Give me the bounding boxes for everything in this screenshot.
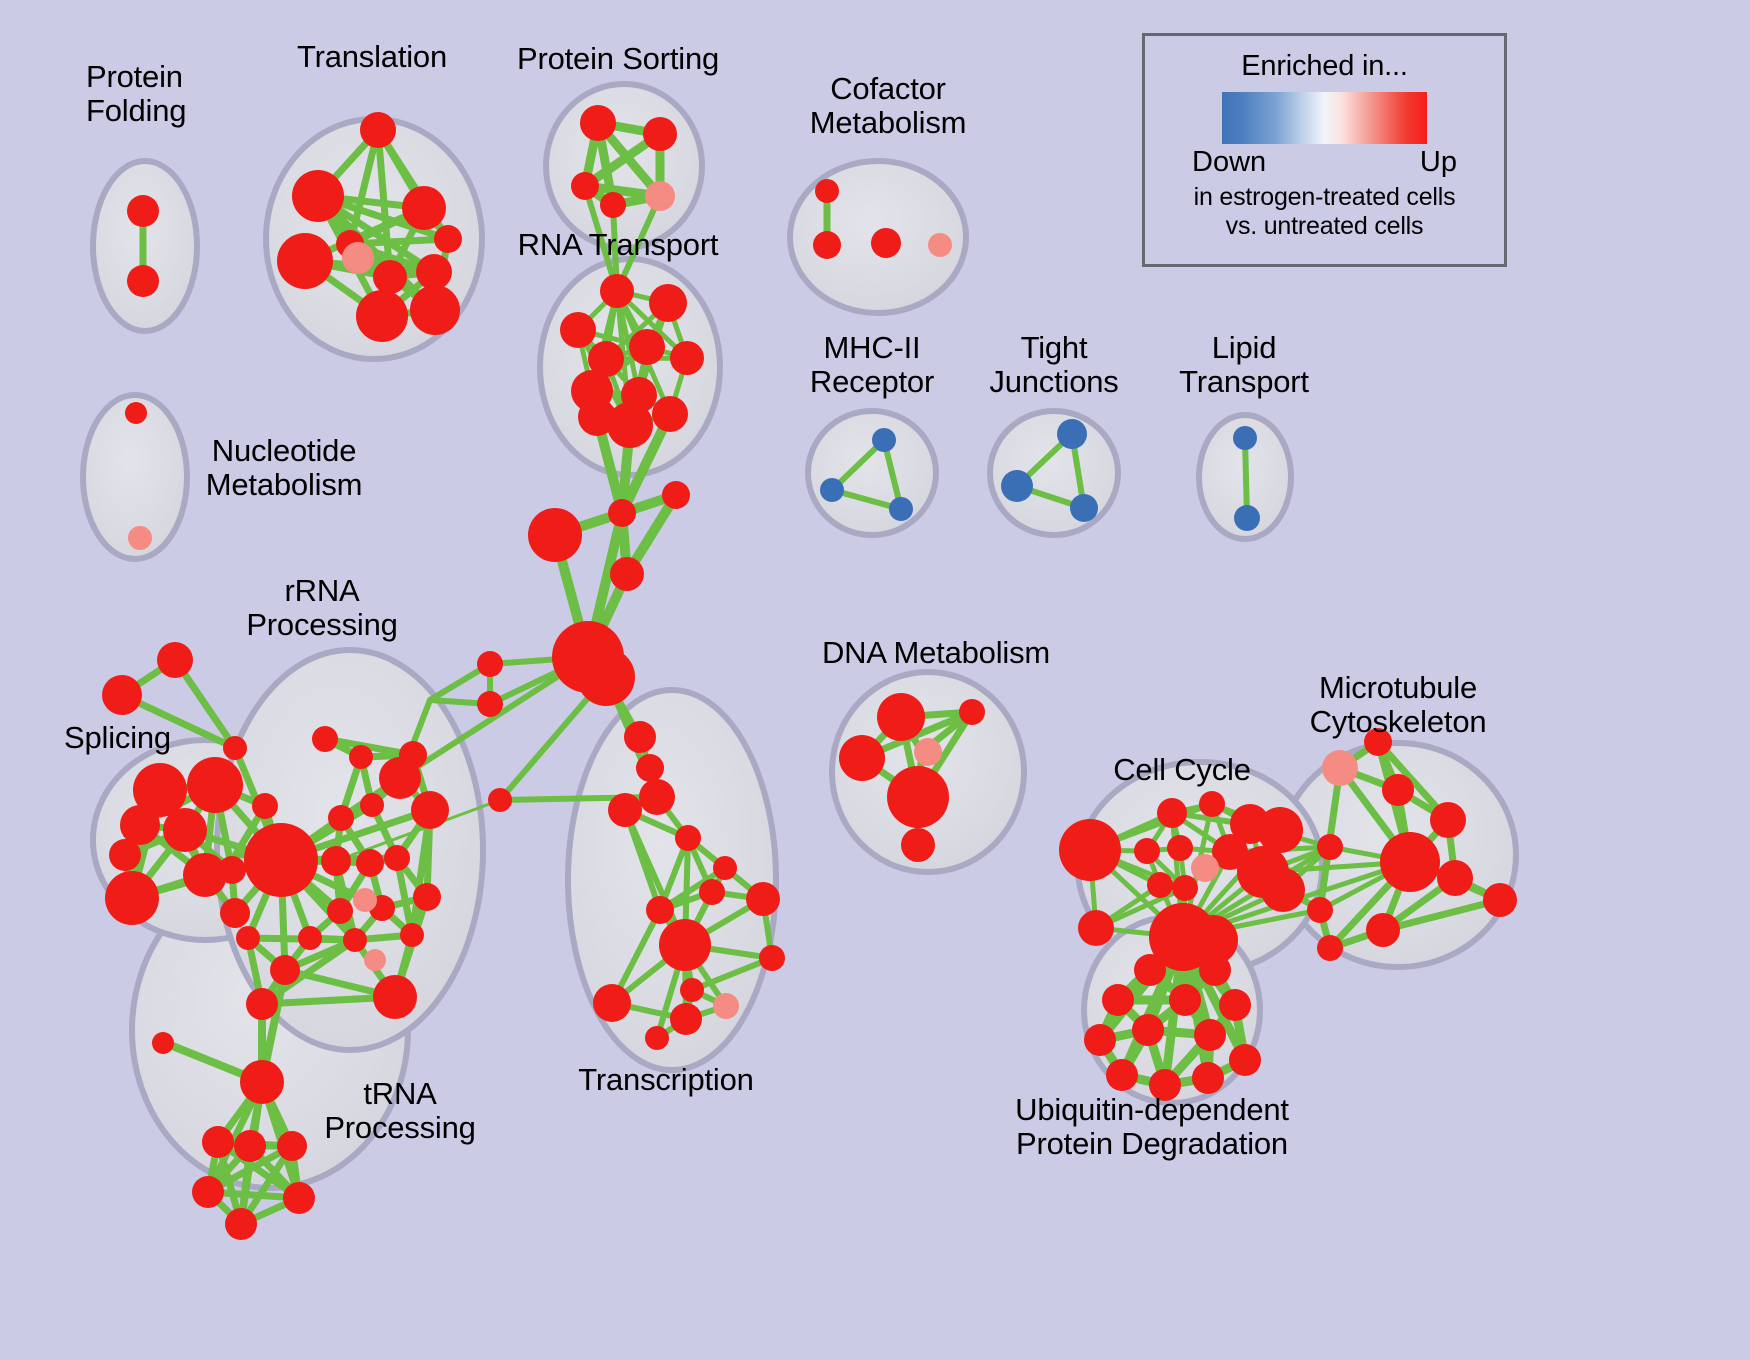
node [343, 928, 367, 952]
legend-subtitle-line1: in estrogen-treated cells [1145, 183, 1504, 211]
node [871, 228, 901, 258]
node [384, 845, 410, 871]
node [659, 919, 711, 971]
node [914, 738, 942, 766]
node [713, 993, 739, 1019]
node [1430, 802, 1466, 838]
node [600, 192, 626, 218]
cluster-label-transcription: Transcription [578, 1063, 753, 1096]
cluster-label-ubiquitin-degradation-line2: Protein Degradation [1016, 1127, 1288, 1160]
node [959, 699, 985, 725]
node [488, 788, 512, 812]
node [1483, 883, 1517, 917]
node [1057, 419, 1087, 449]
node [887, 766, 949, 828]
node [416, 254, 452, 290]
cluster-label-lipid-transport-line2: Transport [1179, 365, 1309, 398]
cluster-label-protein-folding-line2: Folding [86, 94, 186, 127]
node [820, 478, 844, 502]
node [680, 978, 704, 1002]
node [360, 112, 396, 148]
node [477, 691, 503, 717]
node [1070, 494, 1098, 522]
node [356, 290, 408, 342]
cluster-label-splicing: Splicing [64, 721, 171, 754]
node [699, 879, 725, 905]
node [373, 975, 417, 1019]
node [636, 754, 664, 782]
node [1366, 913, 1400, 947]
node [192, 1176, 224, 1208]
cluster-label-protein-sorting: Protein Sorting [517, 42, 719, 75]
cluster-label-rrna-processing: rRNA [285, 574, 360, 607]
cluster-ellipse-protein-sorting [546, 84, 702, 248]
cluster-label-lipid-transport: Lipid [1212, 331, 1277, 364]
legend-color-gradient-bar [1222, 92, 1427, 144]
node [349, 745, 373, 769]
node [283, 1182, 315, 1214]
node [560, 312, 596, 348]
node [839, 735, 885, 781]
node [125, 402, 147, 424]
node [402, 186, 446, 230]
cluster-label-rrna-processing-line2: Processing [246, 608, 397, 641]
node [244, 823, 318, 897]
enrichment-network-figure: Protein Folding Translation Protein Sort… [0, 0, 1750, 1360]
node [571, 172, 599, 200]
node [360, 793, 384, 817]
node [312, 726, 338, 752]
cluster-label-cofactor-metabolism: Cofactor [830, 72, 946, 105]
node [411, 791, 449, 829]
cluster-label-cofactor-metabolism-line2: Metabolism [810, 106, 967, 139]
node [1317, 834, 1343, 860]
node [639, 779, 675, 815]
node [1147, 872, 1173, 898]
node [746, 882, 780, 916]
legend-down-label: Down [1192, 146, 1266, 179]
node [1191, 854, 1219, 882]
node [608, 793, 642, 827]
node [105, 871, 159, 925]
node [1078, 910, 1114, 946]
node [246, 988, 278, 1020]
cluster-ellipse-mhc-ii-receptor [808, 411, 936, 535]
node [236, 926, 260, 950]
cluster-label-dna-metabolism: DNA Metabolism [822, 636, 1050, 669]
node [128, 526, 152, 550]
node [102, 675, 142, 715]
node [1001, 470, 1033, 502]
node [670, 1003, 702, 1035]
node [1157, 798, 1187, 828]
node [1199, 791, 1225, 817]
node [202, 1126, 234, 1158]
node [413, 883, 441, 911]
node [1382, 774, 1414, 806]
node [652, 396, 688, 432]
node [645, 1026, 669, 1050]
node [1059, 819, 1121, 881]
node [649, 284, 687, 322]
node [1169, 984, 1201, 1016]
node [1261, 868, 1305, 912]
node [662, 481, 690, 509]
node [593, 984, 631, 1022]
node [356, 849, 384, 877]
node [364, 949, 386, 971]
node [1380, 832, 1440, 892]
node [1172, 875, 1198, 901]
node [580, 105, 616, 141]
cluster-label-microtubule-cytoskeleton: Microtubule [1319, 671, 1477, 704]
node [277, 1131, 307, 1161]
node [220, 898, 250, 928]
node [252, 793, 278, 819]
node [234, 1130, 266, 1162]
node [218, 856, 246, 884]
node [410, 285, 460, 335]
node [187, 757, 243, 813]
node [1167, 835, 1193, 861]
node [477, 651, 503, 677]
cluster-label-ubiquitin-degradation: Ubiquitin-dependent [1015, 1093, 1289, 1126]
node [670, 341, 704, 375]
node [270, 955, 300, 985]
node [643, 117, 677, 151]
node [624, 721, 656, 753]
node [1084, 1024, 1116, 1056]
node [1233, 426, 1257, 450]
node [646, 896, 674, 924]
node [1219, 989, 1251, 1021]
node [1317, 935, 1343, 961]
node [277, 233, 333, 289]
legend-box: Enriched in... Down Up in estrogen-treat… [1142, 33, 1507, 267]
cluster-label-cell-cycle: Cell Cycle [1113, 753, 1251, 786]
node [373, 260, 407, 294]
cluster-label-trna-processing: tRNA [363, 1077, 436, 1110]
node [608, 499, 636, 527]
node [928, 233, 952, 257]
node [1437, 860, 1473, 896]
node [645, 181, 675, 211]
node [600, 274, 634, 308]
node [342, 242, 374, 274]
cluster-label-translation: Translation [297, 40, 447, 73]
node [321, 846, 351, 876]
node [1102, 984, 1134, 1016]
node [578, 398, 616, 436]
node [225, 1208, 257, 1240]
node [1322, 750, 1358, 786]
node [877, 693, 925, 741]
cluster-label-tight-junctions-line2: Junctions [989, 365, 1118, 398]
node [528, 508, 582, 562]
node [328, 805, 354, 831]
node [434, 225, 462, 253]
cluster-label-mhc-ii-receptor-line2: Receptor [810, 365, 934, 398]
cluster-label-trna-processing-line2: Processing [324, 1111, 475, 1144]
node [1192, 1062, 1224, 1094]
node [127, 265, 159, 297]
legend-title: Enriched in... [1145, 50, 1504, 83]
node [1134, 954, 1166, 986]
cluster-label-protein-folding: Protein [86, 60, 183, 93]
node [1199, 954, 1231, 986]
cluster-label-tight-junctions: Tight [1021, 331, 1088, 364]
node [889, 497, 913, 521]
legend-subtitle-line2: vs. untreated cells [1145, 212, 1504, 240]
node [223, 736, 247, 760]
node [400, 923, 424, 947]
cluster-label-rna-transport: RNA Transport [518, 228, 719, 261]
node [610, 557, 644, 591]
node [240, 1060, 284, 1104]
node [1229, 1044, 1261, 1076]
node [901, 828, 935, 862]
node [713, 856, 737, 880]
node [759, 945, 785, 971]
node [163, 808, 207, 852]
node [1132, 1014, 1164, 1046]
legend-up-label: Up [1420, 146, 1457, 179]
cluster-label-nucleotide-metabolism-line2: Metabolism [206, 468, 363, 501]
node [1194, 1019, 1226, 1051]
node [152, 1032, 174, 1054]
node [813, 231, 841, 259]
cluster-label-mhc-ii-receptor: MHC-II [824, 331, 921, 364]
node [379, 757, 421, 799]
node [629, 329, 665, 365]
node [327, 898, 353, 924]
node [1234, 505, 1260, 531]
node [675, 825, 701, 851]
node [298, 926, 322, 950]
node [577, 648, 635, 706]
cluster-label-nucleotide-metabolism: Nucleotide [212, 434, 356, 467]
node [1134, 838, 1160, 864]
node [872, 428, 896, 452]
node [292, 170, 344, 222]
node [1106, 1059, 1138, 1091]
node [815, 179, 839, 203]
node [127, 195, 159, 227]
node [353, 888, 377, 912]
node [1307, 897, 1333, 923]
cluster-label-microtubule-cytoskeleton-line2: Cytoskeleton [1310, 705, 1487, 738]
node [120, 805, 160, 845]
legend-endpoint-labels: Down Up [1192, 146, 1457, 182]
node [157, 642, 193, 678]
